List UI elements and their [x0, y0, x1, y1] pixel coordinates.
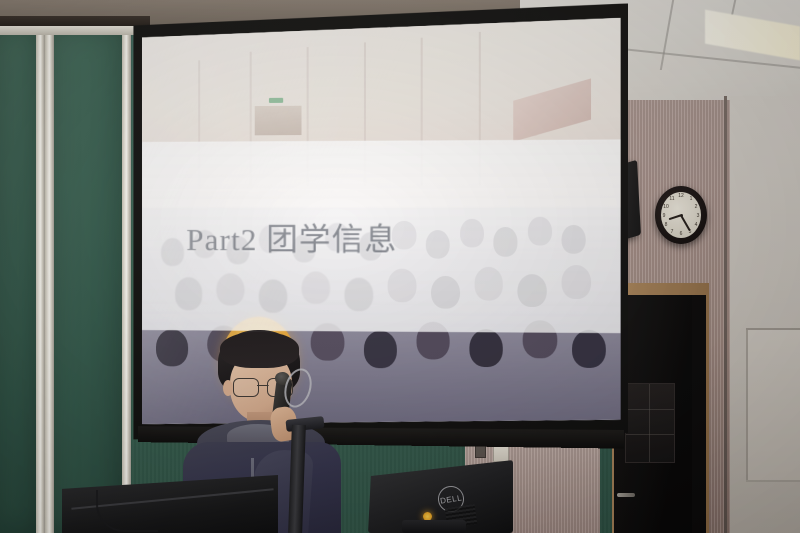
door-window-mullion: [626, 434, 674, 435]
clock-numeral: 9: [660, 214, 668, 219]
wall-clock: 12 1 2 3 4 5 6 7 8 9 10 11: [655, 186, 707, 244]
chalkboard-rail: [45, 26, 54, 533]
chalkboard-panel: [0, 26, 36, 533]
classroom-photo-scene: 12 1 2 3 4 5 6 7 8 9 10 11: [0, 0, 800, 533]
crowd-person: [363, 330, 397, 368]
clock-numeral: 4: [692, 223, 700, 228]
crowd-person: [469, 329, 503, 367]
right-monitor-base: [402, 520, 466, 533]
far-wall-panel: [746, 328, 800, 482]
clock-numeral: 12: [677, 194, 685, 199]
left-monitor-rear-panel: [62, 475, 278, 533]
far-wall: [726, 96, 800, 533]
door-window: [625, 383, 675, 463]
ceiling-light-panel: [705, 10, 800, 61]
monitor-cable: [96, 490, 158, 532]
door-window-mullion: [649, 384, 650, 462]
slide-title-band: Part2 团学信息: [142, 139, 621, 333]
presenter-ear: [223, 380, 233, 396]
wall-corner-edge: [724, 96, 727, 533]
presenter-hair-fringe: [220, 332, 299, 368]
clock-numeral: 10: [662, 205, 670, 210]
chalkboard-rail: [36, 26, 45, 533]
hall-doorway: [254, 106, 301, 136]
hall-stage-riser: [513, 78, 591, 141]
clock-numeral: 6: [677, 232, 685, 237]
clock-numeral: 11: [668, 197, 676, 202]
exit-sign-icon: [268, 98, 283, 104]
clock-minute-hand: [680, 215, 691, 231]
door-window-mullion: [626, 409, 674, 410]
clock-center-pin: [680, 214, 683, 217]
clock-face: 12 1 2 3 4 5 6 7 8 9 10 11: [661, 192, 701, 238]
left-monitor[interactable]: [62, 475, 278, 533]
clock-numeral: 5: [686, 230, 694, 235]
clock-numeral: 7: [668, 230, 676, 235]
clock-numeral: 8: [662, 223, 670, 228]
clock-numeral: 3: [694, 214, 702, 219]
eyeglass-lens-left: [233, 378, 259, 397]
door-gap-shadow: [692, 295, 706, 533]
clock-numeral: 1: [687, 197, 695, 202]
chalkboard-top-rail: [0, 26, 150, 35]
chalkboard-rail: [122, 26, 131, 533]
crowd-person: [572, 330, 606, 368]
ceiling-grid-line: [660, 0, 674, 70]
clock-numeral: 2: [692, 205, 700, 210]
door-handle[interactable]: [617, 493, 635, 497]
chalkboard-panel: [50, 26, 122, 533]
slide-title: Part2 团学信息: [186, 213, 397, 259]
